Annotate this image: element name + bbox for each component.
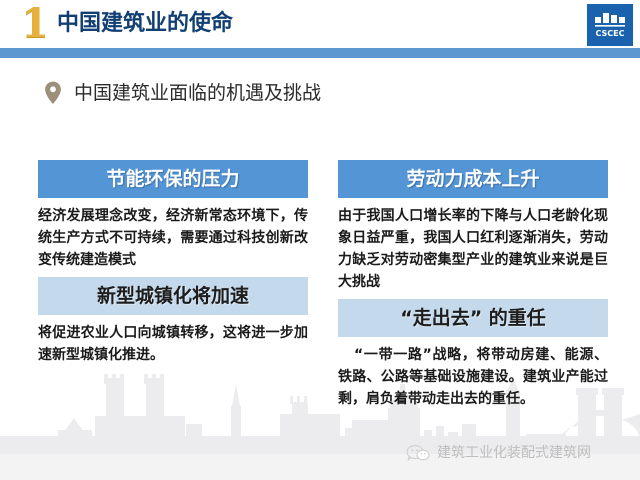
card-heading: 节能环保的压力 bbox=[38, 160, 308, 198]
card-heading: 新型城镇化将加速 bbox=[38, 277, 308, 315]
card-heading: 劳动力成本上升 bbox=[338, 160, 608, 198]
card-going-global: “走出去” 的重任 “一带一路”战略，将带动房建、能源、铁路、公路等基础设施建设… bbox=[338, 299, 608, 410]
card-energy-saving-pressure: 节能环保的压力 经济发展理念改变，经济新常态环境下，传统生产方式不可持续，需要通… bbox=[38, 160, 308, 271]
card-body-text: 由于我国人口增长率的下降与人口老龄化现象日益严重，我国人口红利逐渐消失，劳动力缺… bbox=[338, 205, 608, 293]
footer-watermark: 建筑工业化装配式建筑网 bbox=[406, 442, 591, 464]
page-title: 中国建筑业的使命 bbox=[57, 8, 233, 40]
column-right: 劳动力成本上升 由于我国人口增长率的下降与人口老龄化现象日益严重，我国人口红利逐… bbox=[338, 160, 608, 416]
subtitle-row: 中国建筑业面临的机遇及挑战 bbox=[44, 76, 321, 110]
section-number: 1 bbox=[18, 2, 52, 46]
footer-watermark-text: 建筑工业化装配式建筑网 bbox=[437, 443, 591, 463]
svg-text:CSCEC: CSCEC bbox=[596, 29, 625, 38]
card-heading: “走出去” 的重任 bbox=[338, 299, 608, 337]
location-pin-icon bbox=[44, 81, 62, 105]
card-new-urbanization: 新型城镇化将加速 将促进农业人口向城镇转移，这将进一步加速新型城镇化推进。 bbox=[38, 277, 308, 366]
card-body-text: 经济发展理念改变，经济新常态环境下，传统生产方式不可持续，需要通过科技创新改变传… bbox=[38, 205, 308, 271]
card-body-text: 将促进农业人口向城镇转移，这将进一步加速新型城镇化推进。 bbox=[38, 322, 308, 366]
subtitle-text: 中国建筑业面临的机遇及挑战 bbox=[74, 80, 321, 106]
slide-header: 1 中国建筑业的使命 CSCEC bbox=[0, 0, 640, 48]
card-body-text: “一带一路”战略，将带动房建、能源、铁路、公路等基础设施建设。建筑业产能过剩，肩… bbox=[338, 344, 608, 410]
wechat-icon bbox=[406, 444, 430, 462]
header-divider-rule bbox=[0, 48, 640, 58]
column-left: 节能环保的压力 经济发展理念改变，经济新常态环境下，传统生产方式不可持续，需要通… bbox=[38, 160, 308, 372]
slide-canvas: 1 中国建筑业的使命 CSCEC 中国建筑业面临的 bbox=[0, 0, 640, 480]
company-logo: CSCEC bbox=[587, 4, 633, 46]
cscec-logo-icon: CSCEC bbox=[593, 11, 627, 39]
card-labor-cost-rise: 劳动力成本上升 由于我国人口增长率的下降与人口老龄化现象日益严重，我国人口红利逐… bbox=[338, 160, 608, 293]
